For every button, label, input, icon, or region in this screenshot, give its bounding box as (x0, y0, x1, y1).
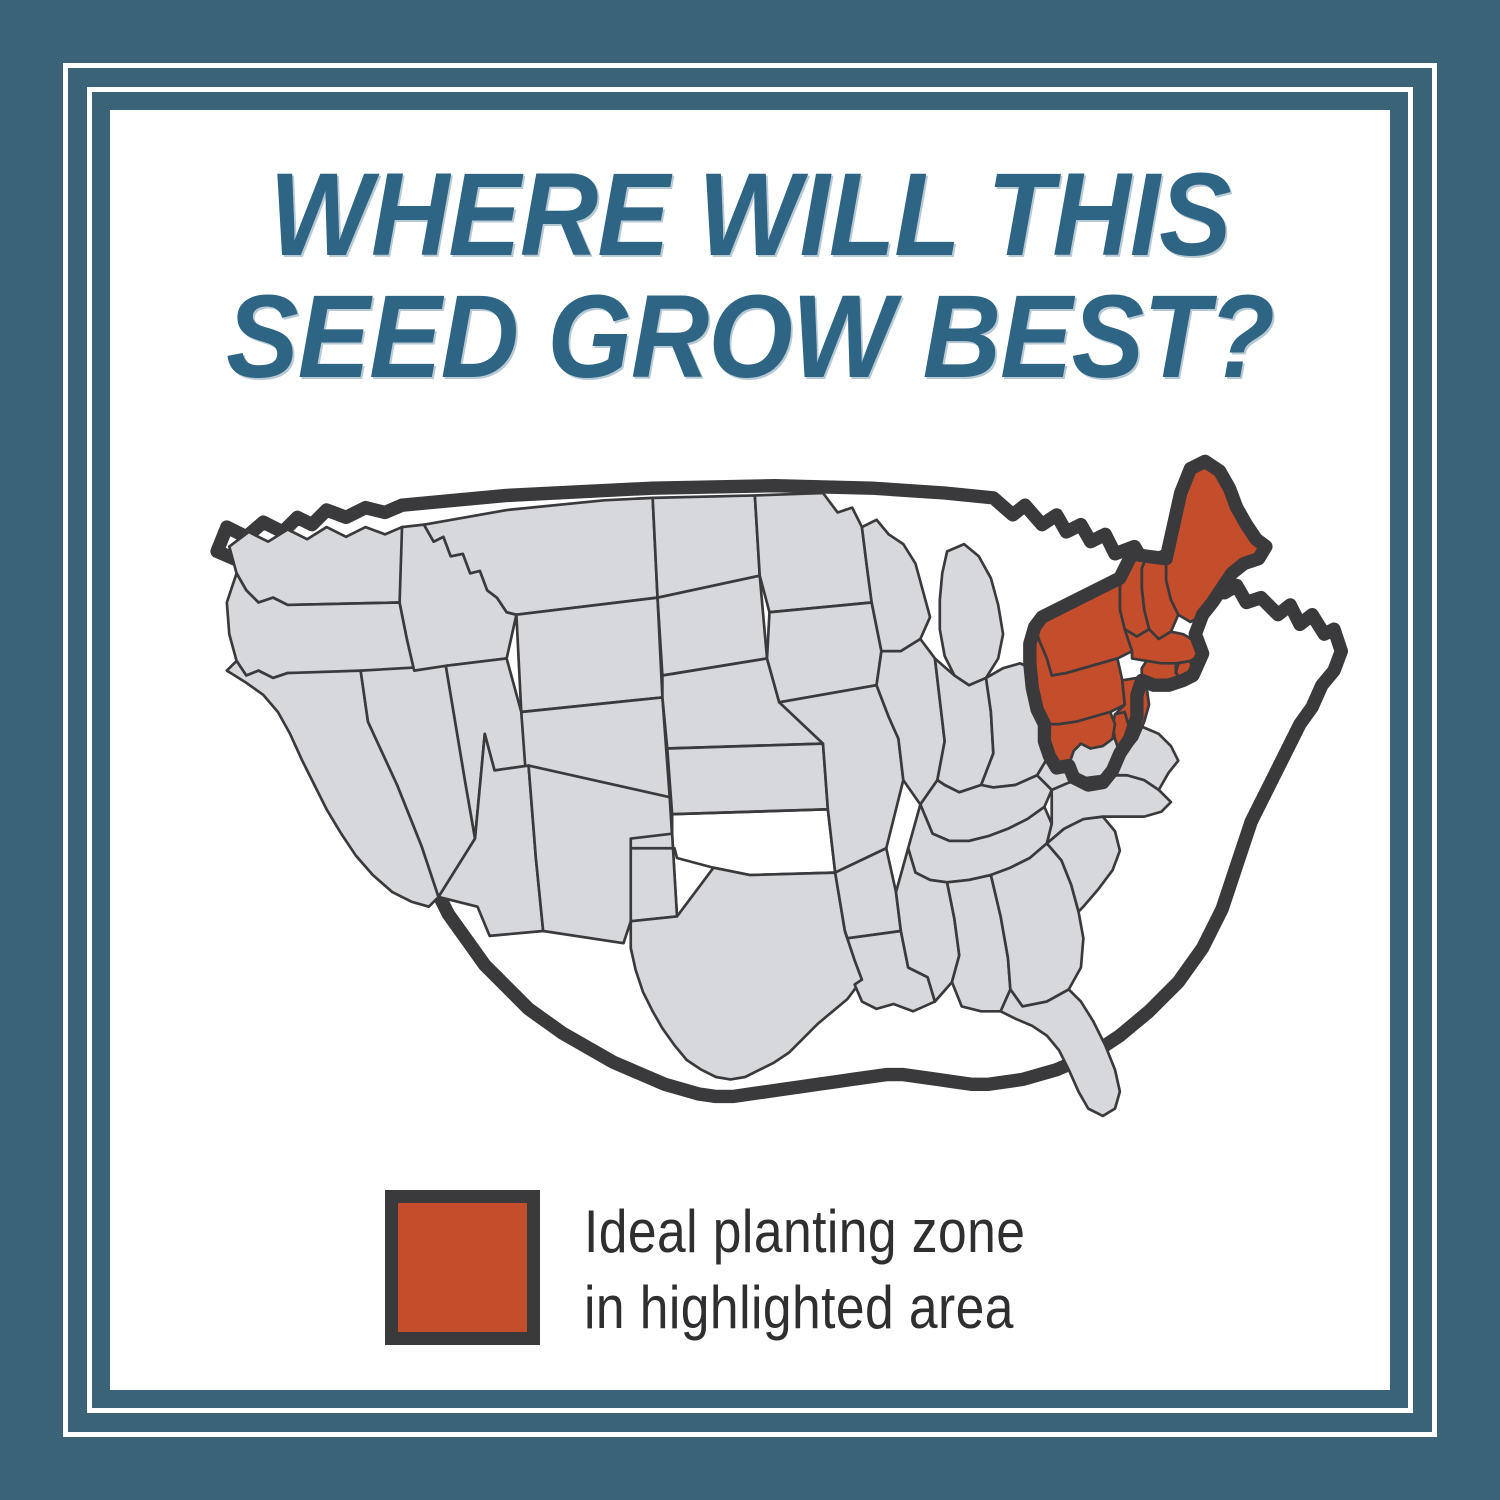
legend-color-swatch (385, 1190, 540, 1345)
state-michigan (940, 544, 1003, 685)
state-washington (229, 527, 404, 605)
title-line-1: WHERE WILL THIS (161, 155, 1339, 277)
legend-line-1: Ideal planting zone (584, 1194, 1066, 1270)
legend-label-group: Ideal planting zone in highlighted area (584, 1190, 1145, 1346)
us-map-container (140, 420, 1360, 1150)
state-florida (1001, 989, 1120, 1116)
state-minnesota (755, 493, 872, 612)
legend-line-2: in highlighted area (584, 1270, 1066, 1346)
title-line-2: SEED GROW BEST? (161, 277, 1339, 399)
states-grey-group (227, 498, 677, 943)
state-kansas (667, 744, 828, 815)
poster-root: WHERE WILL THIS SEED GROW BEST? (0, 0, 1500, 1500)
state-wyoming (516, 598, 662, 712)
map-legend: Ideal planting zone in highlighted area (385, 1190, 1145, 1360)
us-map-svg (140, 420, 1360, 1150)
content-canvas: WHERE WILL THIS SEED GROW BEST? (110, 110, 1390, 1390)
page-title: WHERE WILL THIS SEED GROW BEST? (110, 155, 1390, 398)
